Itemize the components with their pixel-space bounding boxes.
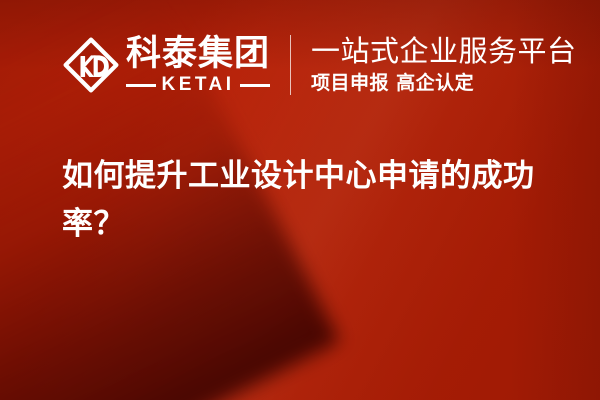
brand-logo[interactable]: 科泰集团 KETAI <box>62 34 270 95</box>
brand-name-en-row: KETAI <box>126 75 270 95</box>
banner-headline: 如何提升工业设计中心申请的成功率？ <box>62 152 562 248</box>
promo-banner: 科泰集团 KETAI 一站式企业服务平台 项目申报 高企认定 如何提升工业设计中… <box>0 0 600 400</box>
slogan-sub-text: 项目申报 高企认定 <box>311 70 577 96</box>
header-divider <box>290 35 291 95</box>
wordmark-rule-left <box>126 84 156 87</box>
brand-wordmark: 科泰集团 KETAI <box>126 34 270 95</box>
wordmark-rule-right <box>240 84 270 87</box>
brand-name-en: KETAI <box>161 75 234 95</box>
banner-header: 科泰集团 KETAI 一站式企业服务平台 项目申报 高企认定 <box>62 33 577 96</box>
brand-slogan: 一站式企业服务平台 项目申报 高企认定 <box>311 33 577 96</box>
brand-name-cn: 科泰集团 <box>126 34 270 74</box>
ketai-diamond-kd-monogram-icon <box>62 36 120 94</box>
slogan-main-text: 一站式企业服务平台 <box>311 33 577 69</box>
